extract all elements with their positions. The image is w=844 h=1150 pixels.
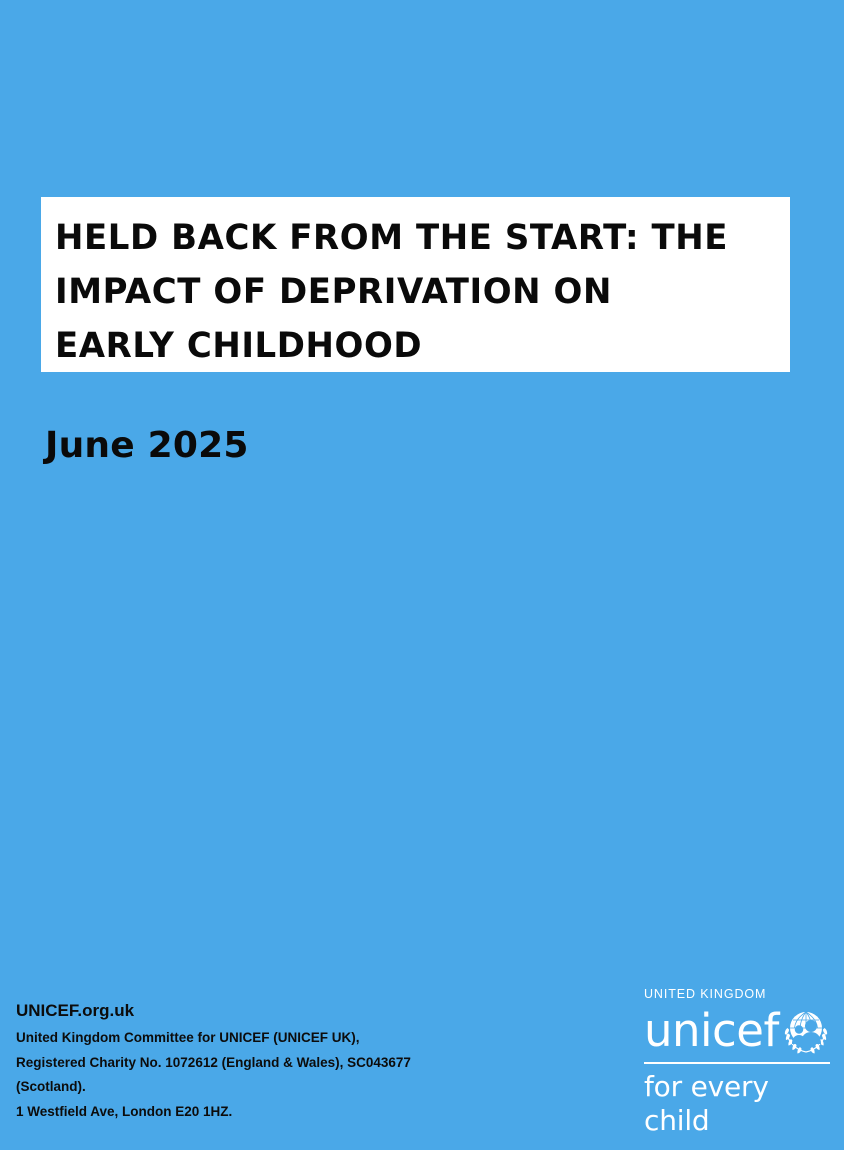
logo-wordmark: unicef: [644, 1008, 779, 1054]
footer-organisation-details: UNICEF.org.uk United Kingdom Committee f…: [16, 999, 436, 1124]
logo-country-label: UNITED KINGDOM: [644, 986, 834, 1002]
unicef-globe-emblem-icon: [781, 1006, 831, 1056]
footer-detail-line: Registered Charity No. 1072612 (England …: [16, 1051, 436, 1076]
logo-divider: [644, 1062, 830, 1064]
footer-detail-line: United Kingdom Committee for UNICEF (UNI…: [16, 1026, 436, 1051]
page-title-line-3: EARLY CHILDHOOD: [55, 319, 768, 373]
unicef-logo: UNITED KINGDOM unicef: [644, 986, 834, 1138]
page-title-line-1: HELD BACK FROM THE START: THE: [55, 211, 768, 265]
page-title-line-2: IMPACT OF DEPRIVATION ON: [55, 265, 768, 319]
footer-detail-line: (Scotland).: [16, 1075, 436, 1100]
logo-tagline: for every child: [644, 1070, 834, 1138]
logo-wordmark-row: unicef: [644, 1007, 834, 1055]
footer-website: UNICEF.org.uk: [16, 999, 436, 1023]
title-card: HELD BACK FROM THE START: THE IMPACT OF …: [41, 197, 790, 372]
footer-detail-line: 1 Westfield Ave, London E20 1HZ.: [16, 1100, 436, 1125]
document-cover-page: HELD BACK FROM THE START: THE IMPACT OF …: [0, 0, 844, 1150]
publication-date: June 2025: [45, 424, 249, 468]
